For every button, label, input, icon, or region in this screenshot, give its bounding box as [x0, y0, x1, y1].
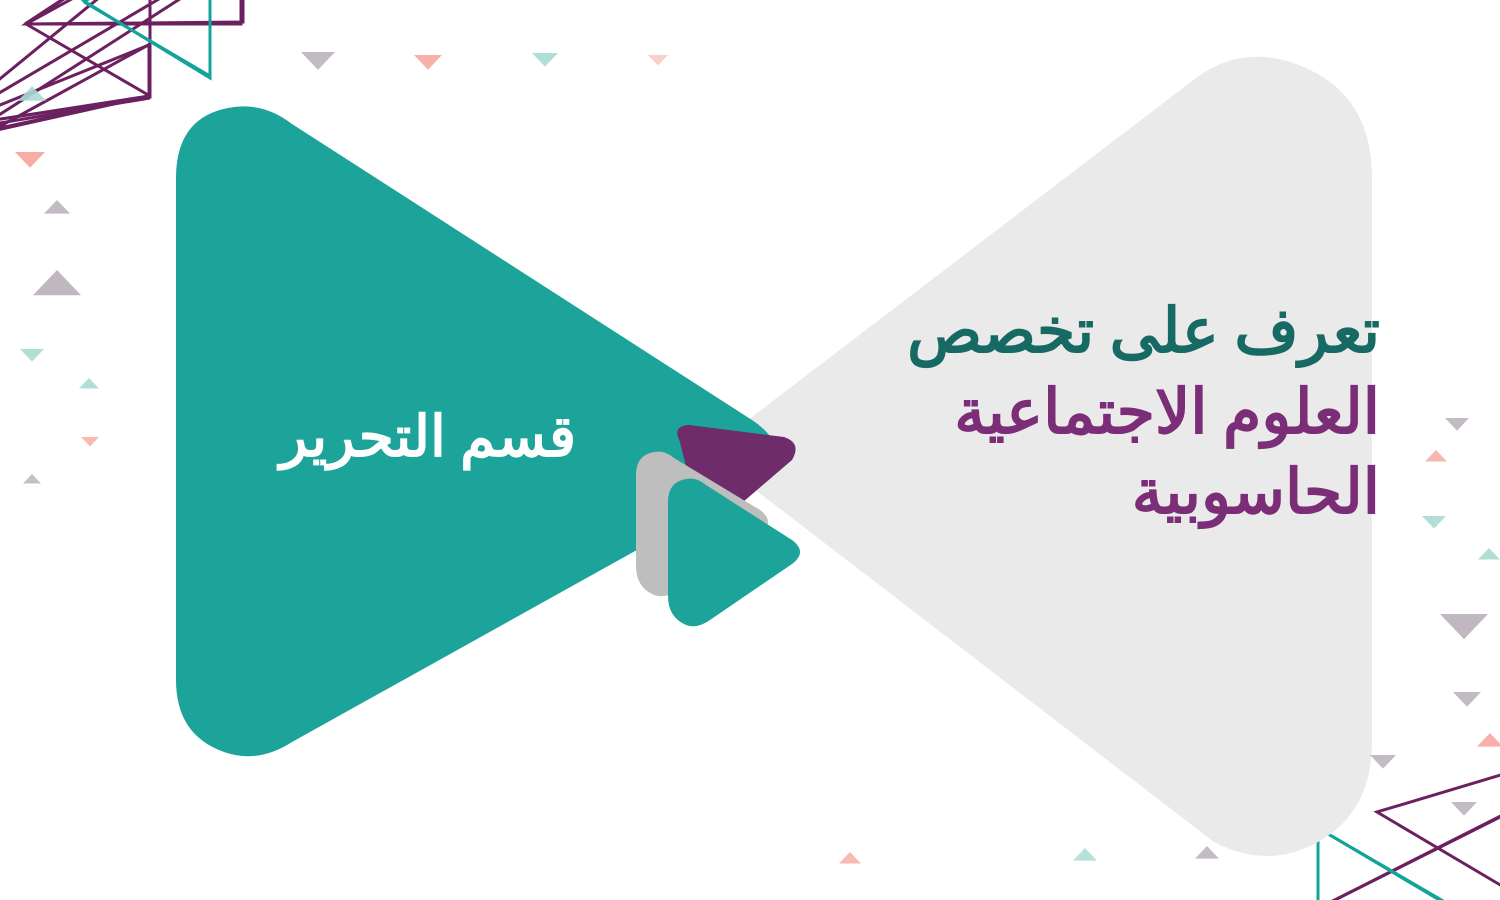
accent-triangle-down-icon	[532, 53, 558, 67]
accent-triangle-down-icon	[1451, 802, 1477, 816]
accent-triangle-up-icon	[839, 852, 861, 864]
scattered-triangle-host	[15, 52, 1500, 864]
accent-triangle-up-icon	[23, 474, 41, 483]
accent-triangle-down-icon	[1445, 418, 1469, 431]
accent-triangle-down-icon	[648, 55, 668, 66]
accent-triangle-down-icon	[1422, 516, 1446, 529]
banner-canvas: قسم التحرير تعرف على تخصص العلوم الاجتما…	[0, 0, 1500, 900]
accent-triangle-up-icon	[18, 86, 46, 101]
accent-triangle-up-icon	[1425, 450, 1447, 462]
accent-triangle-up-icon	[1073, 848, 1097, 861]
accent-triangle-up-icon	[33, 270, 81, 295]
accent-triangle-down-icon	[1440, 614, 1488, 639]
accent-triangle-up-icon	[1478, 548, 1500, 560]
accent-triangle-up-icon	[1195, 846, 1219, 859]
accent-triangle-up-icon	[44, 200, 70, 214]
accent-triangle-down-icon	[414, 55, 442, 70]
scattered-triangles-layer	[0, 0, 1500, 900]
accent-triangle-down-icon	[301, 52, 335, 70]
accent-triangle-up-icon	[1477, 733, 1500, 747]
accent-triangle-up-icon	[79, 378, 99, 389]
accent-triangle-down-icon	[15, 152, 45, 168]
accent-triangle-down-icon	[1370, 755, 1396, 769]
accent-triangle-down-icon	[81, 437, 99, 446]
accent-triangle-down-icon	[20, 349, 44, 362]
accent-triangle-down-icon	[1453, 692, 1481, 707]
